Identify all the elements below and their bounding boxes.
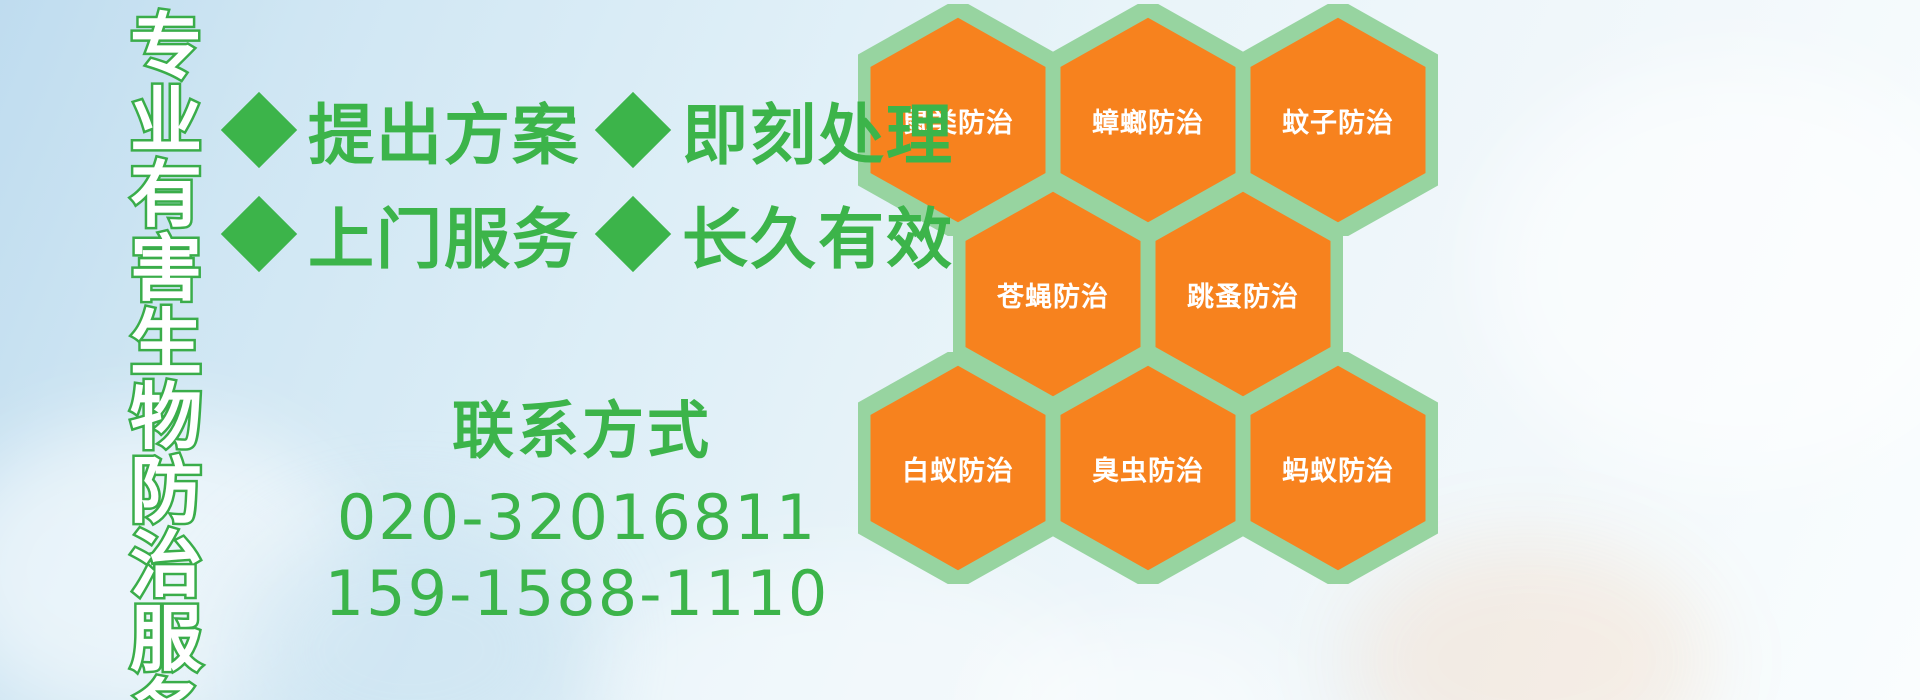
promo-banner: 专 业 有 害 生 物 防 治 服 务 提出方案 即刻处理 上门服务: [0, 0, 1920, 700]
hex-cell-ant-control[interactable]: 蚂蚁防治: [1238, 352, 1438, 584]
diamond-icon: [595, 92, 671, 168]
vertical-headline-char: 专: [130, 10, 202, 84]
vertical-headline-char: 害: [130, 232, 202, 306]
vertical-headline-char: 治: [130, 528, 202, 602]
vertical-headline-char: 服: [130, 602, 202, 676]
feature-label: 长久有效: [682, 186, 954, 282]
feature-row: 上门服务 长久有效: [232, 182, 954, 286]
phone-number-mobile[interactable]: 159-1588-1110: [232, 556, 922, 632]
feature-item-immediate-handling: 即刻处理: [606, 82, 954, 178]
feature-item-propose-plan: 提出方案: [232, 82, 580, 178]
hex-cell-bedbug-control[interactable]: 臭虫防治: [1048, 352, 1248, 584]
vertical-headline-char: 务: [130, 676, 202, 700]
diamond-icon: [221, 92, 297, 168]
vertical-headline-char: 生: [130, 306, 202, 380]
contact-block: 联系方式 020-32016811 159-1588-1110: [232, 380, 922, 632]
feature-row: 提出方案 即刻处理: [232, 78, 954, 182]
feature-item-long-lasting: 长久有效: [606, 186, 954, 282]
diamond-icon: [221, 196, 297, 272]
feature-item-onsite-service: 上门服务: [232, 186, 580, 282]
vertical-headline-char: 有: [130, 158, 202, 232]
feature-label: 即刻处理: [682, 82, 954, 178]
contact-title: 联系方式: [232, 380, 922, 470]
vertical-headline: 专 业 有 害 生 物 防 治 服 务: [112, 10, 220, 690]
feature-label: 上门服务: [308, 186, 580, 282]
phone-number-landline[interactable]: 020-32016811: [232, 480, 922, 556]
vertical-headline-char: 物: [130, 380, 202, 454]
feature-label: 提出方案: [308, 82, 580, 178]
vertical-headline-char: 业: [130, 84, 202, 158]
feature-list: 提出方案 即刻处理 上门服务 长久有效: [232, 78, 954, 286]
vertical-headline-char: 防: [130, 454, 202, 528]
background-blob: [1480, 60, 1920, 480]
diamond-icon: [595, 196, 671, 272]
